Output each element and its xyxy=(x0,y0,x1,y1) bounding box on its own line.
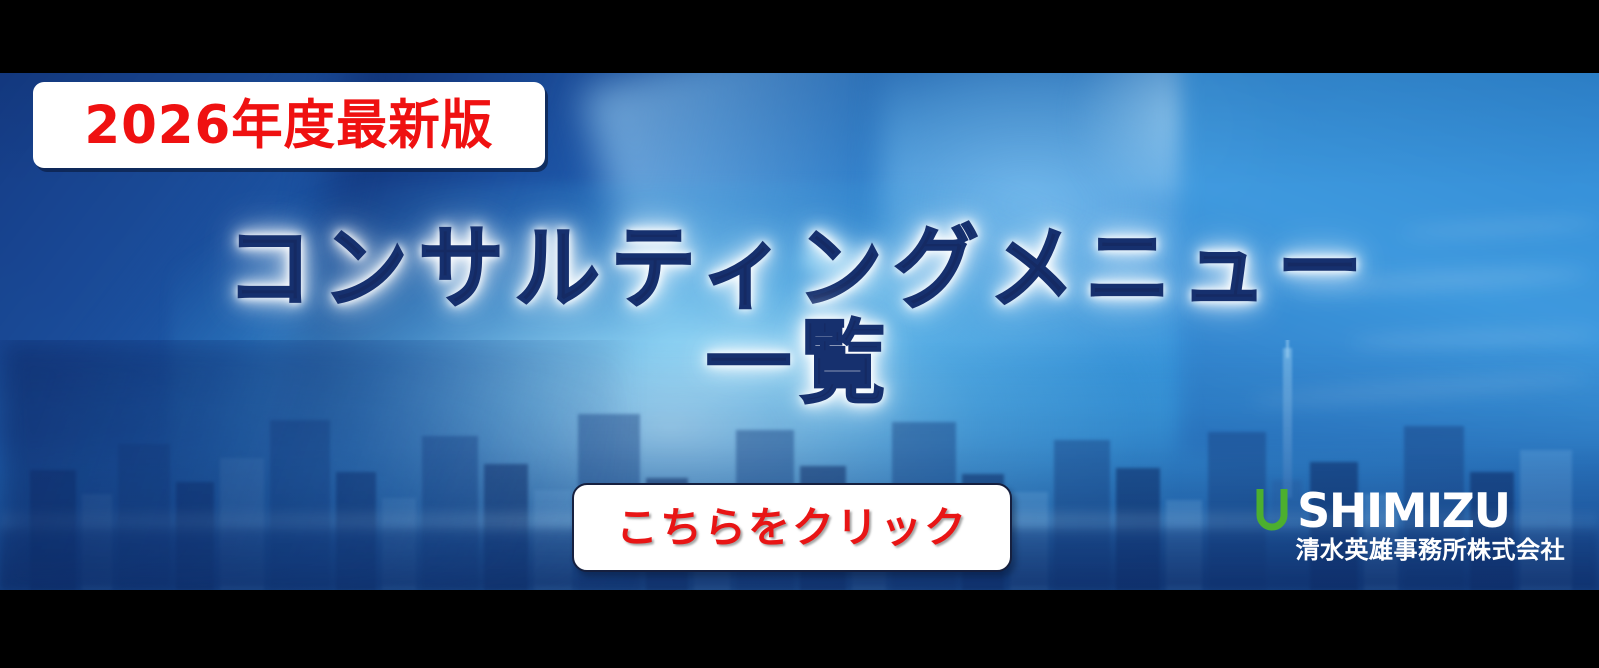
click-here-button[interactable]: こちらをクリック xyxy=(572,483,1012,572)
logo-company-name: 清水英雄事務所株式会社 xyxy=(1296,538,1566,562)
logo-row: SHIMIZU xyxy=(1255,487,1512,533)
click-here-button-label: こちらをクリック xyxy=(616,507,968,549)
year-badge: 2026年度最新版 xyxy=(33,82,545,168)
logo-wordmark: SHIMIZU xyxy=(1297,490,1509,533)
city-tower xyxy=(1283,348,1292,498)
letterbox-bar-top xyxy=(0,0,1599,73)
city-tower-antenna xyxy=(1286,340,1289,358)
company-logo[interactable]: SHIMIZU 清水英雄事務所株式会社 xyxy=(1255,487,1565,562)
consulting-menu-banner: 2026年度最新版 コンサルティングメニュー 一覧 こちらをクリック SHIMI… xyxy=(0,0,1599,668)
u-mark-icon xyxy=(1255,487,1289,533)
city-left-shadow xyxy=(0,340,620,590)
year-badge-label: 2026年度最新版 xyxy=(85,99,494,152)
letterbox-bar-bottom xyxy=(0,590,1599,668)
